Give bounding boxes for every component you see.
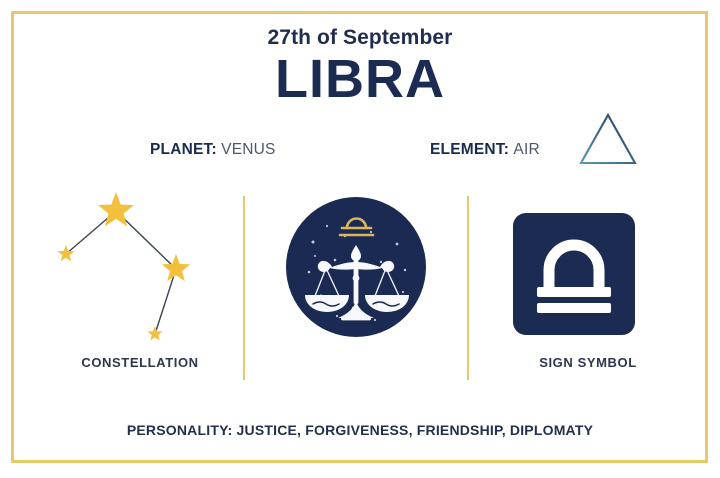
panel-divider-left [243,196,245,380]
sign-title: LIBRA [0,51,720,108]
sign-symbol-label: SIGN SYMBOL [470,355,706,370]
air-triangle-icon [575,108,641,170]
constellation-label: CONSTELLATION [40,355,240,370]
constellation-star [147,326,162,340]
constellation-star [162,254,191,281]
constellation-link [155,269,176,334]
personality-text: PERSONALITY: JUSTICE, FORGIVENESS, FRIEN… [0,422,720,438]
planet-attribute: PLANET: VENUS [150,139,276,161]
planet-value: VENUS [221,141,275,158]
zodiac-info-card: 27th of September LIBRA PLANET: VENUS EL… [0,0,720,478]
date-text: 27th of September [0,26,720,49]
libra-scales-emblem [285,196,427,338]
constellation-stars-icon [48,186,228,346]
element-attribute: ELEMENT: AIR [430,139,540,161]
planet-label: PLANET: [150,141,217,158]
element-label: ELEMENT: [430,141,509,158]
card-header: 27th of September LIBRA [0,26,720,108]
panel-divider-right [467,196,469,380]
constellation-star [57,245,74,261]
element-value: AIR [513,141,539,158]
libra-sign-symbol-icon [513,213,635,335]
